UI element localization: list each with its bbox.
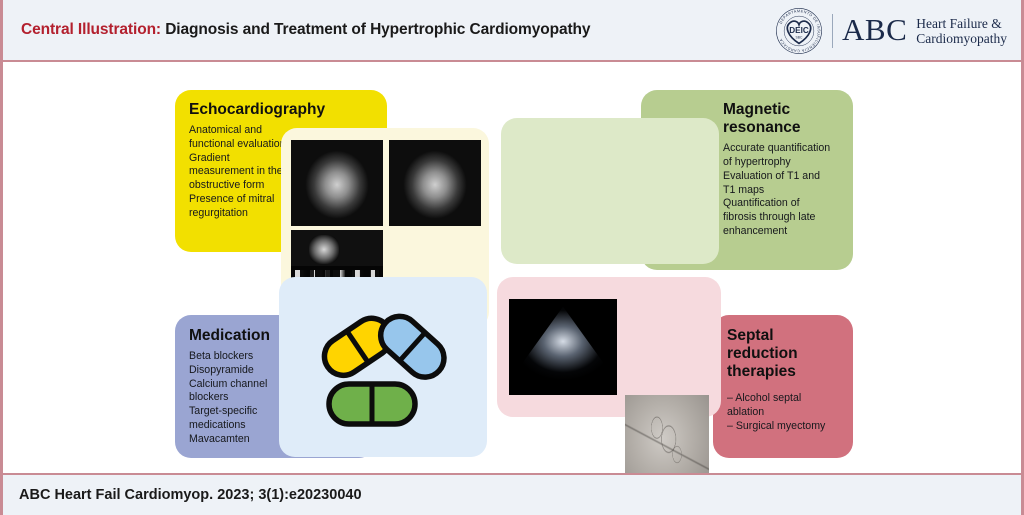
panel-magnetic-resonance-title: Magnetic resonance (723, 101, 839, 137)
capsule-green-icon (329, 384, 415, 424)
journal-acronym: ABC (842, 14, 907, 48)
cmr-long-axis-late-enhancement-image (513, 142, 607, 218)
central-illustration-figure: Central Illustration: Diagnosis and Trea… (0, 0, 1024, 515)
figure-footer: ABC Heart Fail Cardiomyop. 2023; 3(1):e2… (3, 473, 1021, 515)
septal-reduction-image-card (497, 277, 721, 417)
panel-septal-reduction-title: Septal reduction therapies (727, 327, 841, 381)
citation: ABC Heart Fail Cardiomyop. 2023; 3(1):e2… (19, 487, 362, 503)
journal-name: Heart Failure & Cardiomyopathy (916, 16, 1007, 47)
svg-text:SBC: SBC (796, 36, 803, 40)
illustration-canvas: Echocardiography Anatomical and function… (3, 62, 1021, 473)
pills-illustration (299, 302, 471, 438)
panel-echocardiography-title: Echocardiography (189, 101, 373, 119)
panel-septal-reduction: Septal reduction therapies – Alcohol sep… (713, 315, 853, 458)
echo-parasternal-long-axis-image (291, 140, 383, 226)
journal-name-line2: Cardiomyopathy (916, 31, 1007, 46)
page-title: Central Illustration: Diagnosis and Trea… (21, 21, 590, 39)
journal-name-line1: Heart Failure & (916, 16, 1007, 31)
logo-divider (832, 14, 833, 48)
capsule-blue-icon (373, 309, 452, 385)
page-title-text: Diagnosis and Treatment of Hypertrophic … (161, 21, 590, 38)
figure-header: Central Illustration: Diagnosis and Trea… (3, 0, 1021, 62)
svg-text:DEIC: DEIC (789, 26, 809, 35)
deic-seal-icon: DEIC SBC DEPARTAMENTO DE INSUFICIÊNCIA C… (775, 7, 823, 55)
journal-logo: DEIC SBC DEPARTAMENTO DE INSUFICIÊNCIA C… (775, 6, 1007, 56)
panel-septal-reduction-body: – Alcohol septal ablation – Surgical mye… (727, 392, 841, 433)
cmr-short-axis-late-enhancement-image (613, 142, 707, 218)
panel-magnetic-resonance-body: Accurate quantification of hypertrophy E… (723, 142, 839, 238)
echo-contrast-sector-view-image (509, 299, 617, 395)
central-illustration-label: Central Illustration: (21, 21, 161, 38)
magnetic-resonance-image-card (501, 118, 719, 264)
echo-apical-four-chamber-image (389, 140, 481, 226)
